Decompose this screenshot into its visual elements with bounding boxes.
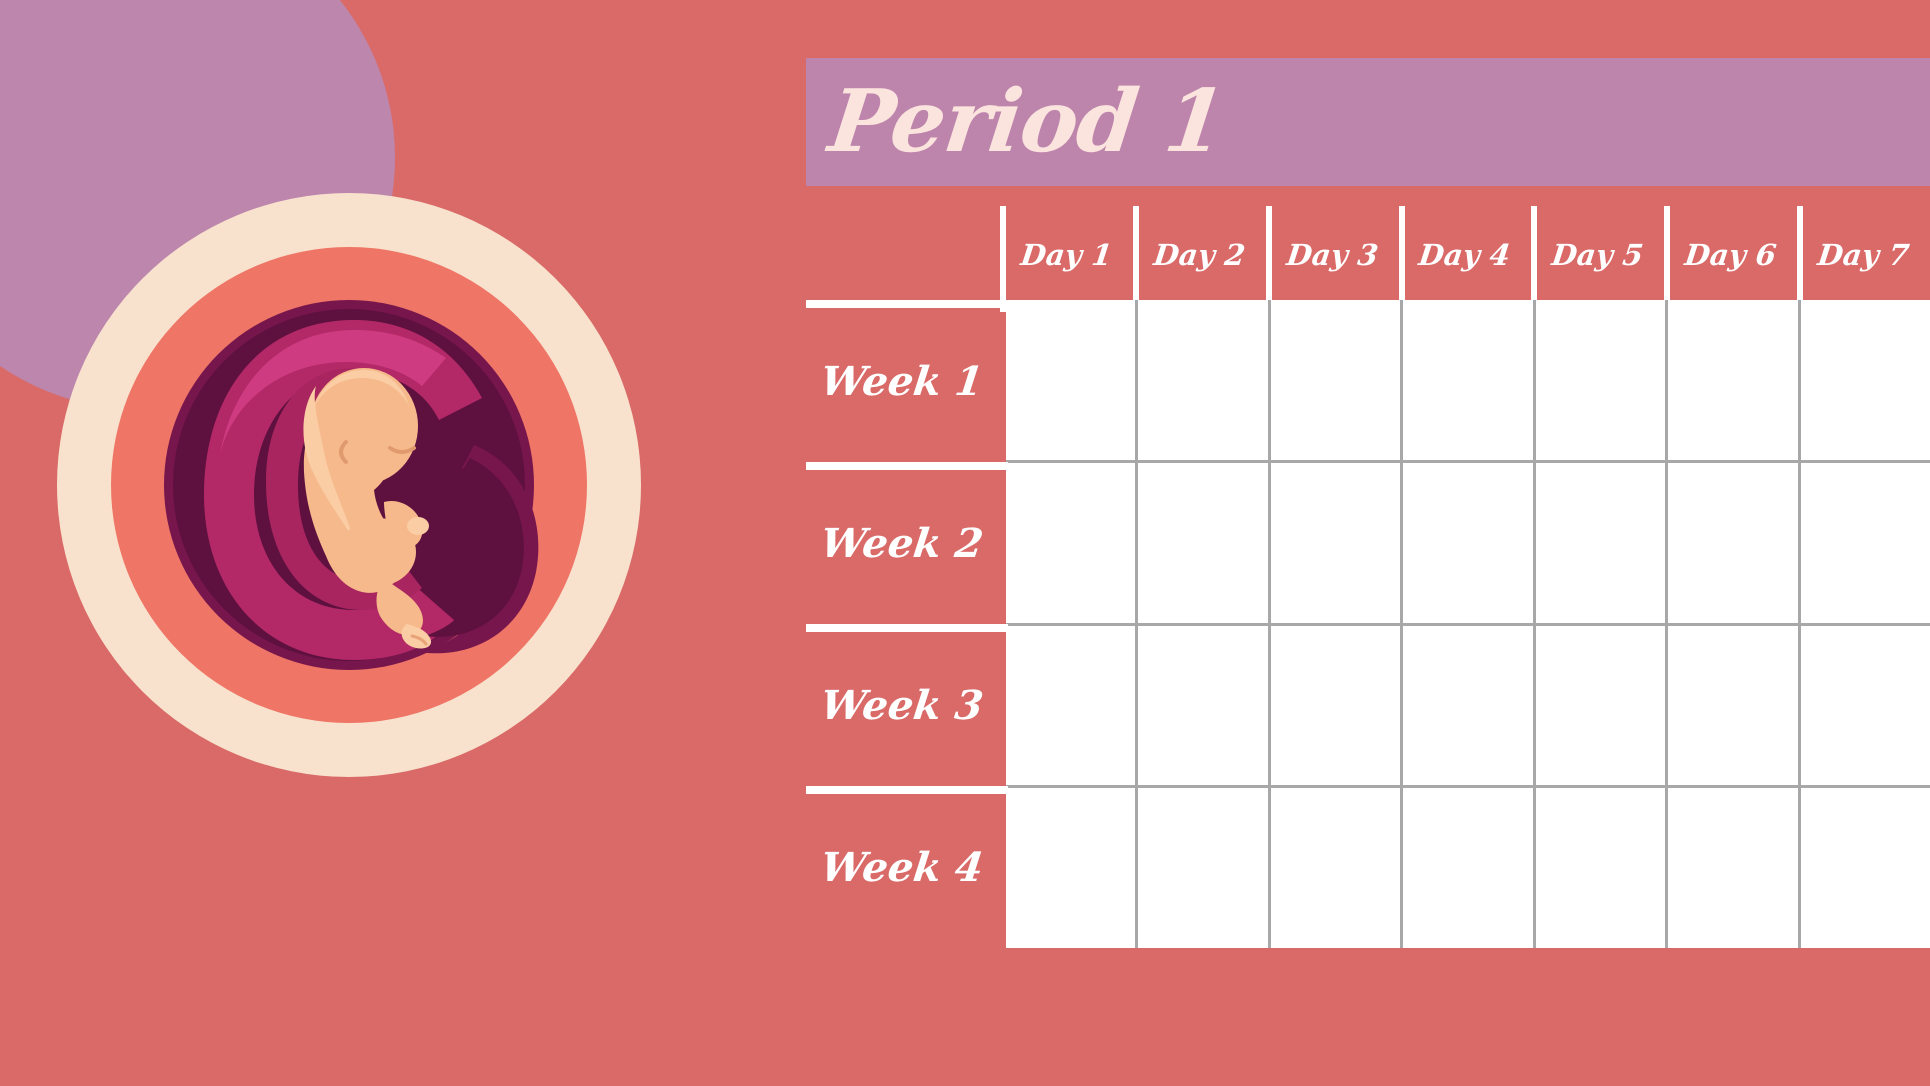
calendar-cell[interactable] [1798,788,1930,948]
week-label-column: Week 1 Week 2 Week 3 Week 4 [806,300,1000,948]
day-header-cell-6: Day 6 [1664,210,1797,300]
calendar-cell[interactable] [1400,463,1532,623]
calendar-cell[interactable] [1665,788,1797,948]
fetus-hand [407,517,429,535]
calendar-cell[interactable] [1006,788,1135,948]
calendar-cell[interactable] [1006,626,1135,786]
day-header-label: Day 5 [1550,238,1645,272]
day-header-cell-4: Day 4 [1399,210,1532,300]
week-label: Week 1 [803,358,986,405]
calendar-cell[interactable] [1268,788,1400,948]
calendar-cell[interactable] [1135,463,1267,623]
calendar-title-banner: Period 1 [806,58,1930,186]
calendar-cell[interactable] [1268,463,1400,623]
week-label: Week 4 [803,844,986,891]
calendar-cell[interactable] [1533,626,1665,786]
day-header-label: Day 6 [1683,238,1778,272]
week-label: Week 3 [803,682,986,729]
calendar-body: Week 1 Week 2 Week 3 Week 4 [806,300,1930,948]
calendar-cell[interactable] [1268,626,1400,786]
day-header-cell-3: Day 3 [1266,210,1399,300]
calendar-cell[interactable] [1665,626,1797,786]
calendar-cell[interactable] [1135,626,1267,786]
calendar-cell[interactable] [1798,300,1930,460]
table-row [1006,460,1930,623]
calendar-cell[interactable] [1533,788,1665,948]
week-label: Week 2 [803,520,986,567]
calendar-cell[interactable] [1400,626,1532,786]
table-corner-spacer [806,210,1000,300]
day-header-cell-5: Day 5 [1531,210,1664,300]
week-label-cell-1: Week 1 [806,300,1000,462]
calendar-cell[interactable] [1135,300,1267,460]
calendar-cell[interactable] [1268,300,1400,460]
page-title: Period 1 [801,79,1230,165]
day-header-cell-7: Day 7 [1797,210,1930,300]
day-header-cell-1: Day 1 [1000,210,1133,300]
calendar-cell[interactable] [1533,463,1665,623]
week-label-cell-4: Week 4 [806,786,1000,948]
day-header-label: Day 3 [1285,238,1380,272]
table-row [1006,300,1930,460]
calendar-cell[interactable] [1665,463,1797,623]
calendar-cell[interactable] [1400,300,1532,460]
calendar-cell[interactable] [1533,300,1665,460]
calendar-cell[interactable] [1665,300,1797,460]
embryo-in-womb-illustration [54,190,644,780]
table-row [1006,785,1930,948]
day-header-label: Day 1 [1019,238,1114,272]
day-header-label: Day 7 [1816,238,1911,272]
calendar-grid [1006,300,1930,948]
fetus-rump [340,518,416,586]
week-label-cell-3: Week 3 [806,624,1000,786]
calendar-cell[interactable] [1400,788,1532,948]
calendar-cell[interactable] [1006,300,1135,460]
day-header-cell-2: Day 2 [1133,210,1266,300]
day-header-label: Day 4 [1417,238,1512,272]
calendar-cell[interactable] [1798,463,1930,623]
period-planner-calendar: Period 1 Day 1 Day 2 Day 3 Day 4 Day 5 D… [806,58,1930,948]
calendar-cell[interactable] [1135,788,1267,948]
day-header-label: Day 2 [1152,238,1247,272]
calendar-cell[interactable] [1798,626,1930,786]
table-row [1006,623,1930,786]
calendar-cell[interactable] [1006,463,1135,623]
week-label-cell-2: Week 2 [806,462,1000,624]
day-header-row: Day 1 Day 2 Day 3 Day 4 Day 5 Day 6 Day … [806,210,1930,300]
